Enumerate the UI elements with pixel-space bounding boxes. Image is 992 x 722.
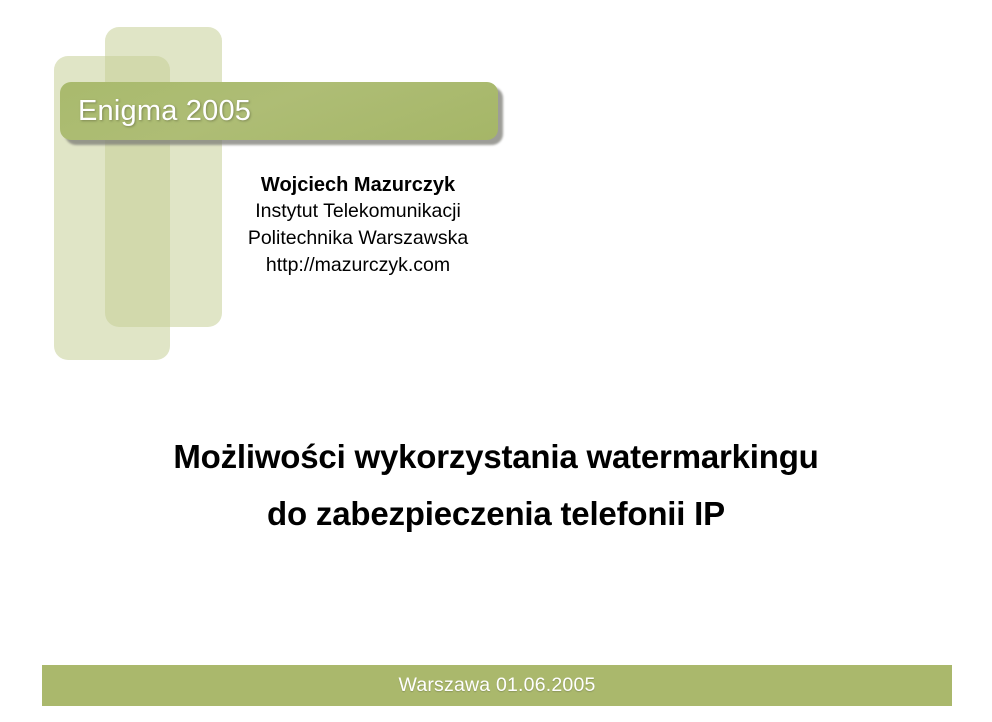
- footer-bar: Warszawa 01.06.2005: [42, 665, 952, 706]
- author-name: Wojciech Mazurczyk: [208, 172, 508, 198]
- author-affiliation-university: Politechnika Warszawska: [208, 225, 508, 252]
- footer-location-date: Warszawa 01.06.2005: [398, 674, 595, 697]
- conference-banner: Enigma 2005: [60, 82, 498, 140]
- author-affiliation-institute: Instytut Telekomunikacji: [208, 198, 508, 225]
- presentation-slide: Enigma 2005 Wojciech Mazurczyk Instytut …: [0, 0, 992, 722]
- page-title-line-1: Możliwości wykorzystania watermarkingu: [0, 428, 992, 485]
- page-title: Możliwości wykorzystania watermarkingu d…: [0, 428, 992, 542]
- conference-banner-title: Enigma 2005: [78, 95, 251, 128]
- author-block: Wojciech Mazurczyk Instytut Telekomunika…: [208, 172, 508, 279]
- author-website: http://mazurczyk.com: [208, 252, 508, 279]
- page-title-line-2: do zabezpieczenia telefonii IP: [0, 485, 992, 542]
